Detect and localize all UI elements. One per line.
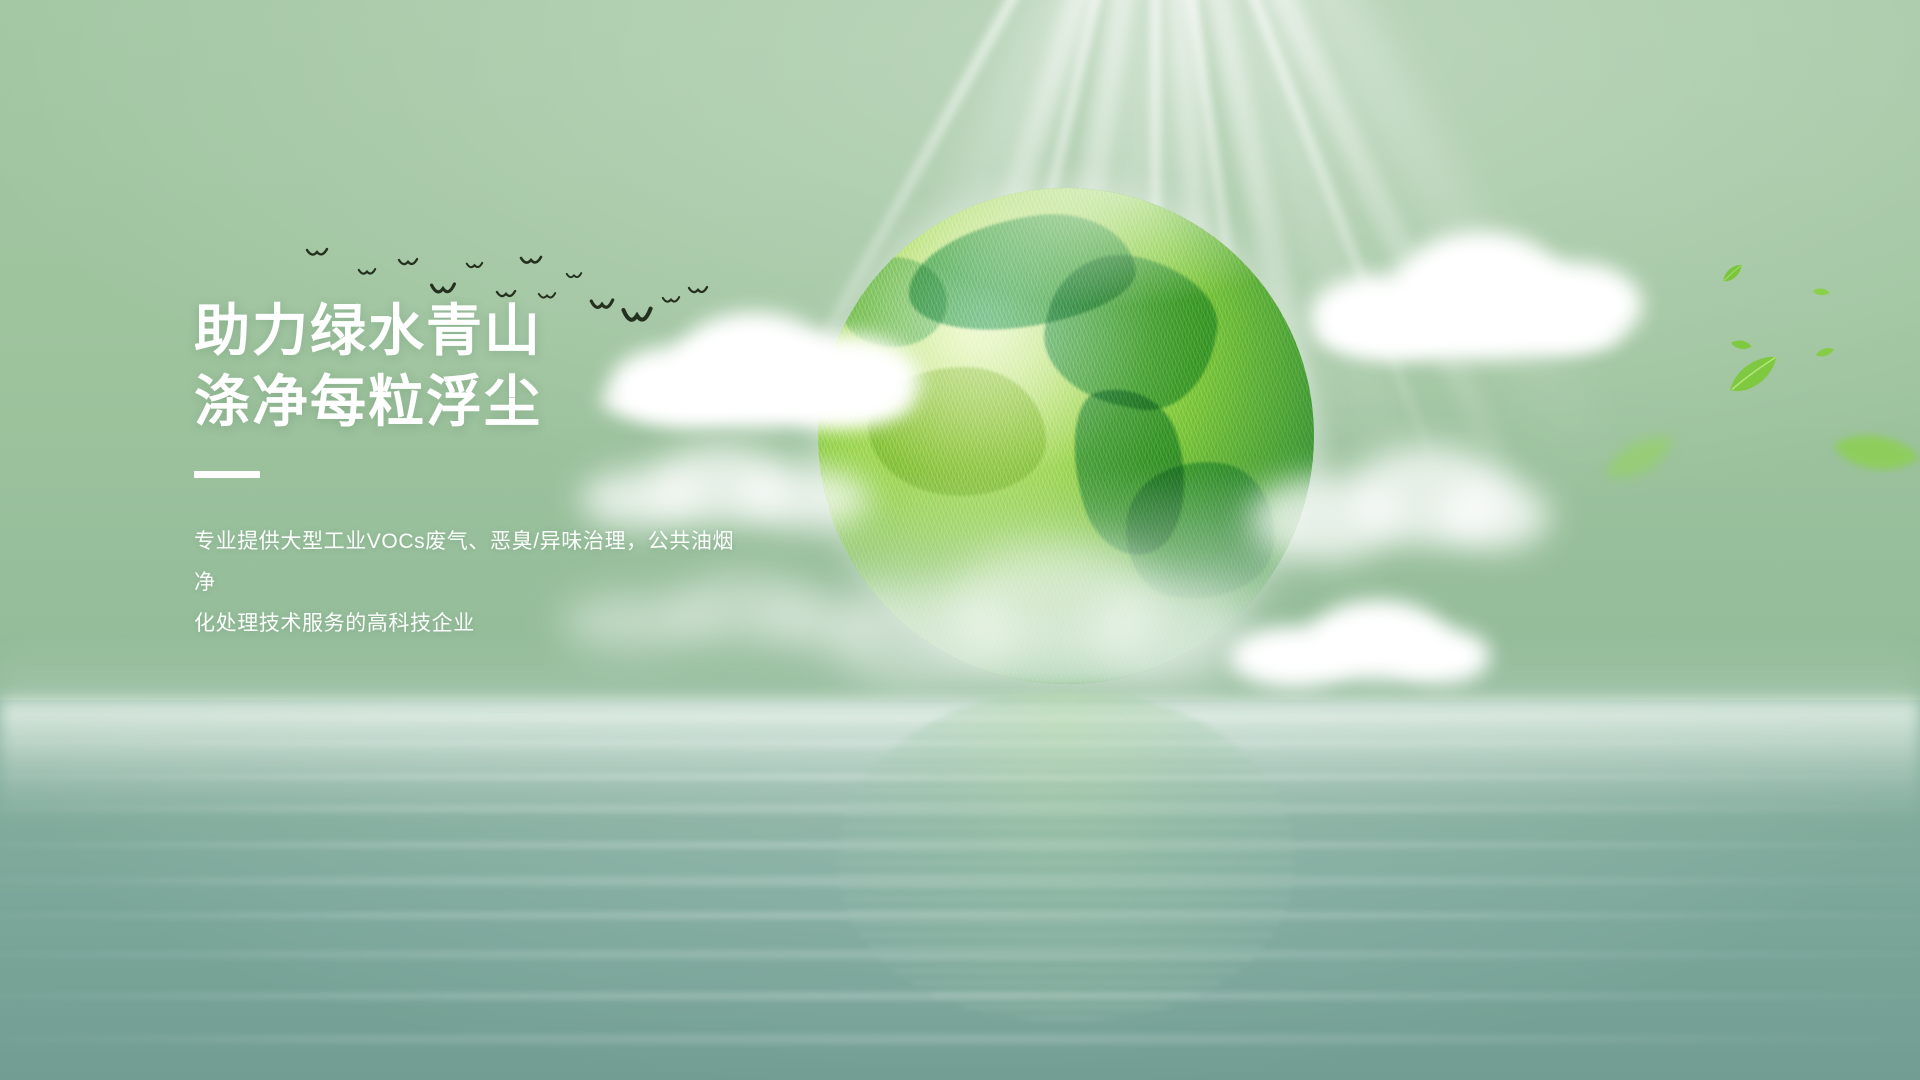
- headline-line-1: 助力绿水青山: [194, 296, 954, 367]
- description-line-2: 化处理技术服务的高科技企业: [194, 604, 742, 645]
- description-line-1: 专业提供大型工业VOCs废气、恶臭/异味治理，公共油烟净: [194, 522, 742, 604]
- title-divider: [194, 471, 260, 478]
- page-title: 助力绿水青山 涤净每粒浮尘: [194, 296, 954, 437]
- hero-description: 专业提供大型工业VOCs废气、恶臭/异味治理，公共油烟净 化处理技术服务的高科技…: [194, 522, 742, 645]
- bird-icon: [358, 268, 376, 280]
- headline-line-2: 涤净每粒浮尘: [194, 367, 954, 438]
- bird-icon: [306, 248, 328, 262]
- globe-water-reflection: [838, 690, 1294, 1020]
- hero-banner: 助力绿水青山 涤净每粒浮尘 专业提供大型工业VOCs废气、恶臭/异味治理，公共油…: [0, 0, 1920, 1080]
- hero-copy: 助力绿水青山 涤净每粒浮尘 专业提供大型工业VOCs废气、恶臭/异味治理，公共油…: [194, 296, 954, 666]
- bird-icon: [566, 272, 582, 283]
- bird-icon: [520, 256, 542, 270]
- bird-icon: [466, 262, 483, 273]
- bird-icon: [398, 258, 418, 271]
